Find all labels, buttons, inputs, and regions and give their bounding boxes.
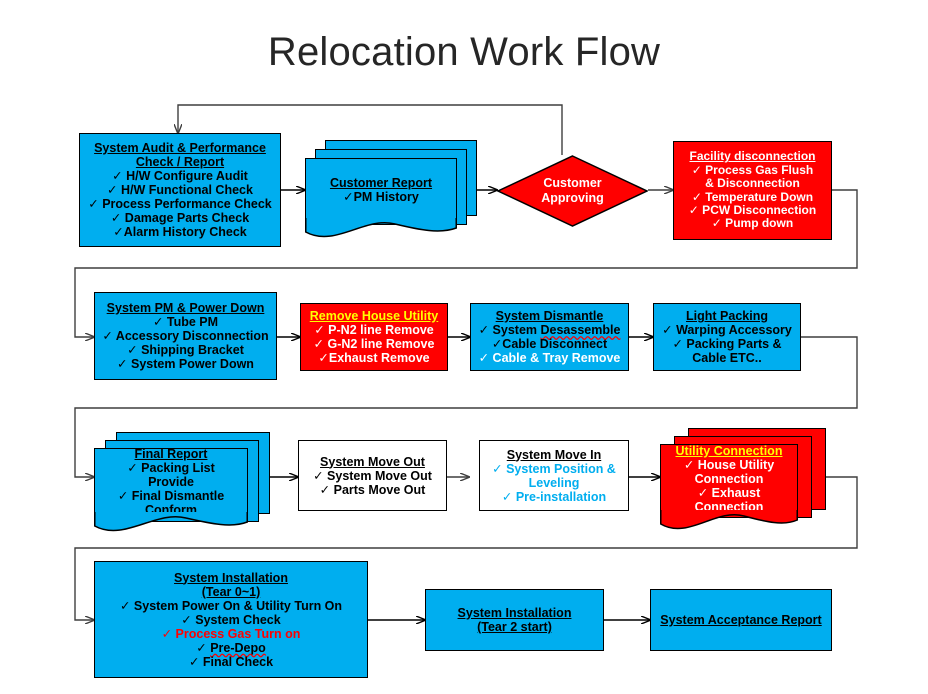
node-light-packing[interactable]: Light Packing ✓ Warping Accessory ✓ Pack… <box>653 303 801 371</box>
node-title: Light Packing <box>686 309 768 323</box>
node-remove-house-utility[interactable]: Remove House Utility ✓ P-N2 line Remove … <box>300 303 448 371</box>
node-item: ✓ Parts Move Out <box>320 483 426 497</box>
node-item: Connection <box>695 472 764 486</box>
node-item: ✓ Warping Accessory <box>662 323 792 337</box>
check-prefix: ✓ System <box>479 323 541 337</box>
node-title: System Installation <box>174 571 288 585</box>
node-title-line2: (Tear 0~1) <box>202 585 260 599</box>
node-title-line2: (Tear 2 start) <box>477 620 552 634</box>
node-system-audit[interactable]: System Audit & Performance Check / Repor… <box>79 133 281 247</box>
node-item: ✓ Damage Parts Check <box>111 211 249 225</box>
document-wave <box>660 510 799 536</box>
node-item: ✓ H/W Functional Check <box>107 183 253 197</box>
node-item: Leveling <box>529 476 580 490</box>
node-customer-report[interactable]: Customer Report ✓PM History <box>305 140 477 240</box>
node-title: Facility disconnection <box>689 150 815 163</box>
node-final-report[interactable]: Final Report ✓ Packing List Provide ✓ Fi… <box>94 432 274 532</box>
node-title: Customer Report <box>330 176 432 190</box>
node-system-dismantle[interactable]: System Dismantle ✓ System Desassemble ✓C… <box>470 303 629 371</box>
node-title-line2: Check / Report <box>136 155 224 169</box>
node-item: ✓ Process Gas Flush <box>692 164 813 177</box>
node-system-pm[interactable]: System PM & Power Down ✓ Tube PM ✓ Acces… <box>94 292 277 380</box>
node-item: ✓ Final Dismantle <box>118 489 224 503</box>
node-item: ✓ Pre-installation <box>502 490 606 504</box>
node-item-predepo: ✓ Pre-Depo <box>196 641 266 655</box>
node-item: ✓ Pump down <box>712 217 793 230</box>
node-title: System PM & Power Down <box>107 301 265 315</box>
node-item: ✓ G-N2 line Remove <box>314 337 435 351</box>
node-item: ✓ System Position & <box>492 462 616 476</box>
node-item: ✓ System Move Out <box>313 469 432 483</box>
node-subtitle: Approving <box>541 191 604 206</box>
misspelled-word: Desassemble <box>540 323 620 337</box>
node-title: System Audit & Performance <box>94 141 266 155</box>
node-item-process-gas: ✓ Process Gas Turn on <box>162 627 301 641</box>
node-title: System Installation <box>458 606 572 620</box>
node-item: ✓ Final Check <box>189 655 273 669</box>
node-title: Customer <box>543 176 601 191</box>
diamond-label: Customer Approving <box>497 155 648 227</box>
node-title: System Move Out <box>320 455 425 469</box>
node-title: Remove House Utility <box>310 309 439 323</box>
misspelled-word: Pre-Depo <box>210 641 266 655</box>
node-item: ✓ Temperature Down <box>692 191 813 204</box>
node-item: ✓ Shipping Bracket <box>127 343 244 357</box>
node-customer-approving[interactable]: Customer Approving <box>497 155 648 227</box>
node-facility-disconnection[interactable]: Facility disconnection ✓ Process Gas Flu… <box>673 141 832 240</box>
node-item: ✓ System Check <box>181 613 280 627</box>
node-item: ✓ System Power Down <box>117 357 254 371</box>
document-front: Utility Connection ✓ House Utility Conne… <box>660 444 798 513</box>
check-prefix: ✓ <box>196 641 210 655</box>
document-wave <box>305 218 458 244</box>
node-item: ✓ Packing List <box>127 461 215 475</box>
node-item-desassemble: ✓ System Desassemble <box>479 323 621 337</box>
node-item: ✓ System Power On & Utility Turn On <box>120 599 342 613</box>
node-title: Utility Connection <box>676 444 783 458</box>
node-item: ✓Cable Disconnect <box>492 337 607 351</box>
node-item: ✓ House Utility <box>684 458 774 472</box>
node-system-move-in[interactable]: System Move In ✓ System Position & Level… <box>479 440 629 511</box>
node-title: System Move In <box>507 448 601 462</box>
node-title: Final Report <box>135 447 208 461</box>
node-item: Cable ETC.. <box>692 351 761 365</box>
node-title: System Acceptance Report <box>660 613 821 627</box>
node-item: & Disconnection <box>705 177 800 190</box>
node-item: ✓PM History <box>343 190 419 204</box>
node-item: ✓ Cable & Tray Remove <box>479 351 621 365</box>
node-item: Provide <box>148 475 194 489</box>
document-front: Final Report ✓ Packing List Provide ✓ Fi… <box>94 448 248 515</box>
node-system-installation-1[interactable]: System Installation (Tear 0~1) ✓ System … <box>94 561 368 678</box>
node-utility-connection[interactable]: Utility Connection ✓ House Utility Conne… <box>660 428 830 528</box>
node-item: ✓ Exhaust <box>698 486 761 500</box>
node-system-move-out[interactable]: System Move Out ✓ System Move Out ✓ Part… <box>298 440 447 511</box>
node-item: ✓Exhaust Remove <box>318 351 429 365</box>
node-item: ✓ Process Performance Check <box>88 197 271 211</box>
document-front: Customer Report ✓PM History <box>305 158 457 221</box>
node-system-installation-2[interactable]: System Installation (Tear 2 start) <box>425 589 604 651</box>
node-item: ✓ Packing Parts & <box>672 337 781 351</box>
node-item: ✓Alarm History Check <box>113 225 246 239</box>
node-item: ✓ Tube PM <box>153 315 218 329</box>
node-system-acceptance-report[interactable]: System Acceptance Report <box>650 589 832 651</box>
document-wave <box>94 512 249 538</box>
node-item: ✓ P-N2 line Remove <box>314 323 434 337</box>
page-title: Relocation Work Flow <box>0 30 928 75</box>
node-item: ✓ Accessory Disconnection <box>102 329 268 343</box>
node-item: ✓ H/W Configure Audit <box>112 169 248 183</box>
node-item: ✓ PCW Disconnection <box>689 204 816 217</box>
node-title: System Dismantle <box>496 309 604 323</box>
